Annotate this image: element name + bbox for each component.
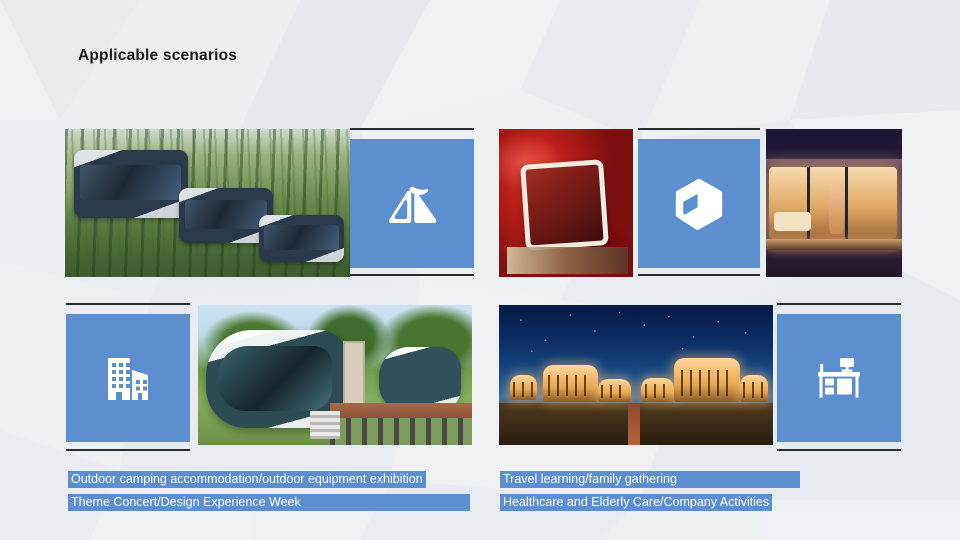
caption-left-2: Theme Concert/Design Experience Week [68,494,470,511]
divider-top-left-bottom [350,274,474,276]
divider-bottom-left [66,303,190,305]
desk-workstation-icon [816,356,862,400]
divider-top-left [350,128,474,130]
buildings-icon [102,354,154,402]
divider-top-right [638,128,760,130]
cube-icon [675,177,723,231]
page-title: Applicable scenarios [78,47,237,65]
divider-bottom-right-bottom [777,449,901,451]
divider-bottom-right [777,303,901,305]
divider-top-right-bottom [638,274,760,276]
divider-bottom-left-bottom [66,449,190,451]
tent-icon [385,183,439,225]
night-cabin-village-photo [499,305,773,445]
cube-icon-tile[interactable] [638,139,760,268]
tent-icon-tile[interactable] [350,139,474,268]
night-glass-cabin-photo [766,129,902,277]
buildings-icon-tile[interactable] [66,314,190,442]
green-capsule-house-photo [198,305,472,445]
red-exhibition-pod-photo [499,129,633,277]
desk-workstation-icon-tile[interactable] [777,314,901,442]
caption-left-1: Outdoor camping accommodation/outdoor eq… [68,471,426,488]
caption-right-1: Travel learning/family gathering [500,471,800,488]
forest-modular-cabins-photo [65,129,350,277]
caption-right-2: Healthcare and Elderly Care/Company Acti… [500,494,772,511]
